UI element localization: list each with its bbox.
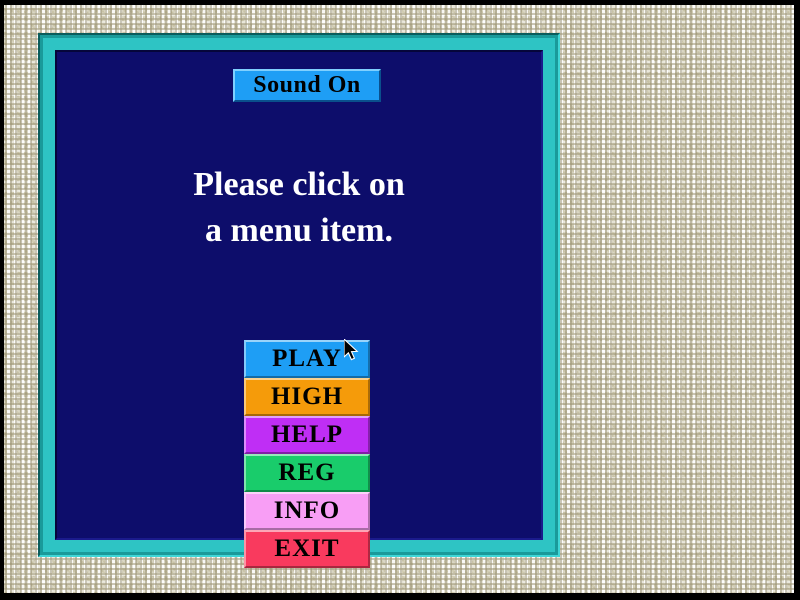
prompt-line-1: Please click on (57, 162, 541, 208)
menu-button-high[interactable]: HIGH (244, 378, 370, 416)
screen-edge-bottom (0, 593, 800, 600)
application-screen: Sound On Please click on a menu item. PL… (0, 0, 800, 600)
screen-edge-left (0, 0, 4, 600)
game-stage: Sound On Please click on a menu item. PL… (55, 50, 543, 540)
prompt-message: Please click on a menu item. (57, 162, 541, 253)
screen-edge-top (0, 0, 800, 5)
main-menu: PLAY HIGH HELP REG INFO EXIT (244, 340, 370, 568)
game-panel-frame: Sound On Please click on a menu item. PL… (38, 33, 560, 557)
menu-button-info[interactable]: INFO (244, 492, 370, 530)
menu-button-play[interactable]: PLAY (244, 340, 370, 378)
menu-button-help[interactable]: HELP (244, 416, 370, 454)
screen-edge-right (794, 0, 800, 600)
menu-button-reg[interactable]: REG (244, 454, 370, 492)
prompt-line-2: a menu item. (57, 208, 541, 254)
sound-toggle-button[interactable]: Sound On (233, 69, 381, 102)
menu-button-exit[interactable]: EXIT (244, 530, 370, 568)
game-panel-bevel: Sound On Please click on a menu item. PL… (43, 38, 555, 552)
